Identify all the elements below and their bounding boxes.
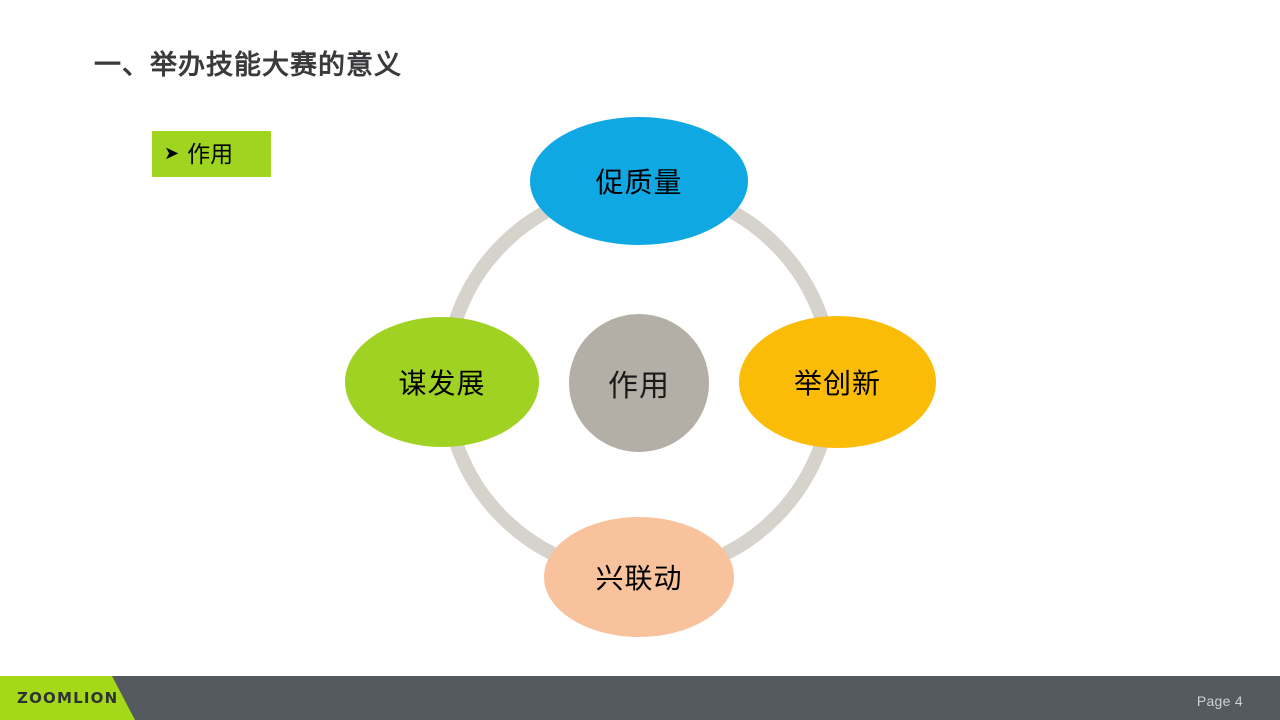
slide-canvas: 一、举办技能大赛的意义 ➤ 作用 促质量 举创新 兴联动 谋发展 作用 ZOOM… [0,0,1280,720]
zoomlion-logo: ZOOMLION [0,676,135,720]
footer-bar: ZOOMLION Page 4 [0,676,1280,720]
diagram-node-left[interactable]: 谋发展 [345,317,539,447]
diagram-node-right-label: 举创新 [794,362,881,402]
arrow-bullet-icon: ➤ [164,144,179,162]
section-label-box: ➤ 作用 [152,131,271,177]
zoomlion-logo-text: ZOOMLION [17,689,118,707]
diagram-node-top-label: 促质量 [595,161,682,201]
diagram-node-center-label: 作用 [608,361,670,405]
diagram-node-left-label: 谋发展 [398,362,485,402]
diagram-node-right[interactable]: 举创新 [739,316,936,448]
diagram-node-center[interactable]: 作用 [569,314,709,452]
diagram-node-bottom-label: 兴联动 [595,557,682,597]
page-title: 一、举办技能大赛的意义 [94,48,402,83]
section-label-text: 作用 [187,143,233,166]
cycle-diagram: 促质量 举创新 兴联动 谋发展 作用 [330,100,950,645]
diagram-node-bottom[interactable]: 兴联动 [544,517,734,637]
diagram-node-top[interactable]: 促质量 [530,117,748,245]
page-number: Page 4 [1197,693,1243,709]
